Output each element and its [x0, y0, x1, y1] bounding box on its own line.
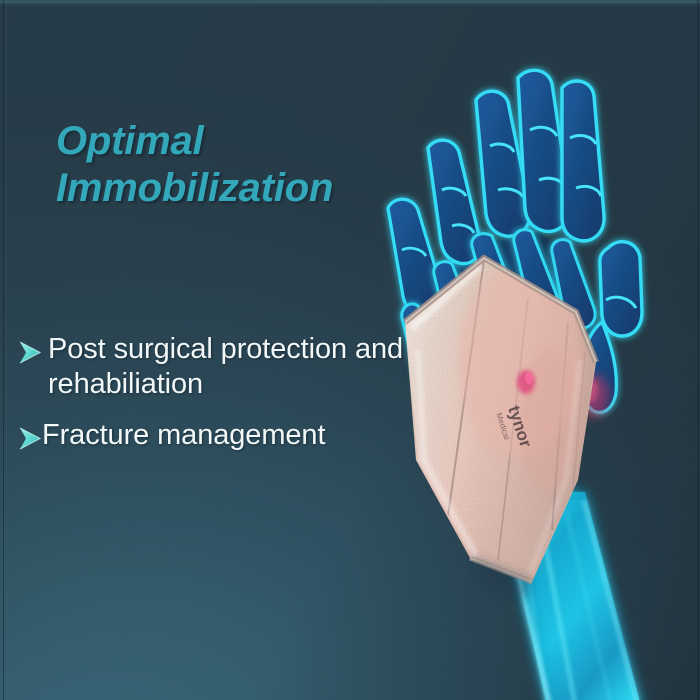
slide-canvas: tynor Medical Optimal Immobilization	[0, 0, 700, 700]
bullet-list: Post surgical protection and rehabiliati…	[16, 332, 466, 456]
slide-left-edge-highlight	[6, 0, 7, 700]
slide-top-edge-strip	[0, 0, 700, 6]
list-item-label: Fracture management	[42, 418, 466, 453]
arrow-bullet-icon	[16, 422, 44, 456]
page-title: Optimal Immobilization	[56, 118, 476, 212]
arrow-bullet-icon	[16, 336, 44, 370]
list-item: Fracture management	[16, 418, 466, 456]
page-title-line-2: Immobilization	[56, 165, 476, 212]
page-title-line-1: Optimal	[56, 118, 476, 165]
list-item-label: Post surgical protection and rehabiliati…	[48, 332, 466, 402]
list-item: Post surgical protection and rehabiliati…	[16, 332, 466, 402]
slide-left-edge-line	[3, 0, 4, 700]
slide-right-edge-line	[697, 0, 699, 700]
